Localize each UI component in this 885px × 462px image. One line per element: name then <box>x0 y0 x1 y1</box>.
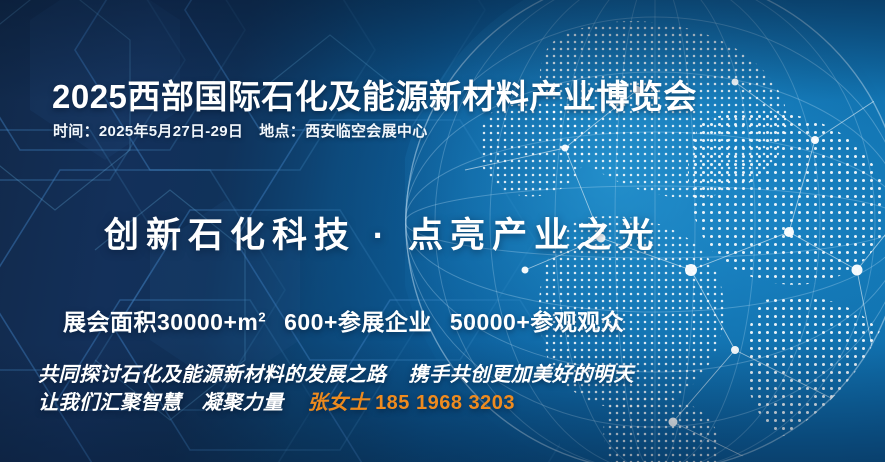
date-value: 2025年5月27日-29日 <box>99 123 243 140</box>
tagline-2a: 让我们汇聚智慧 <box>38 392 182 414</box>
banner-content: 2025西部国际石化及能源新材料产业博览会 时间：2025年5月27日-29日地… <box>0 0 885 462</box>
venue-label: 地点： <box>259 123 305 140</box>
stat-area-label: 展会面积 <box>63 309 157 335</box>
contact-phone[interactable]: 185 1968 3203 <box>375 392 515 414</box>
contact-name: 张女士 <box>308 392 370 414</box>
stat-exhibitors: 600+参展企业 <box>284 303 432 337</box>
stats-row: 展会面积30000+m2600+参展企业50000+参观观众 <box>63 303 624 337</box>
date-label: 时间： <box>53 123 99 140</box>
stat-visitors: 50000+参观观众 <box>450 303 624 337</box>
tagline-line-2: 让我们汇聚智慧凝聚力量张女士 185 1968 3203 <box>38 386 515 415</box>
exhibition-banner: 2025西部国际石化及能源新材料产业博览会 时间：2025年5月27日-29日地… <box>0 0 885 462</box>
stat-area-value: 30000+ <box>157 309 237 335</box>
tagline-1a: 共同探讨石化及能源新材料的发展之路 <box>38 364 387 386</box>
event-meta: 时间：2025年5月27日-29日地点：西安临空会展中心 <box>53 120 428 141</box>
tagline-2b: 凝聚力量 <box>202 392 284 414</box>
tagline-line-1: 共同探讨石化及能源新材料的发展之路携手共创更加美好的明天 <box>38 358 634 387</box>
venue-value: 西安临空会展中心 <box>305 123 427 140</box>
stat-area-unit-sup: 2 <box>258 309 266 324</box>
banner-title: 2025西部国际石化及能源新材料产业博览会 <box>52 70 697 118</box>
banner-slogan: 创新石化科技 · 点亮产业之光 <box>104 207 660 258</box>
stat-area-unit: m <box>237 309 258 335</box>
tagline-1b: 携手共创更加美好的明天 <box>409 364 635 386</box>
stat-area: 展会面积30000+m2 <box>63 303 266 337</box>
